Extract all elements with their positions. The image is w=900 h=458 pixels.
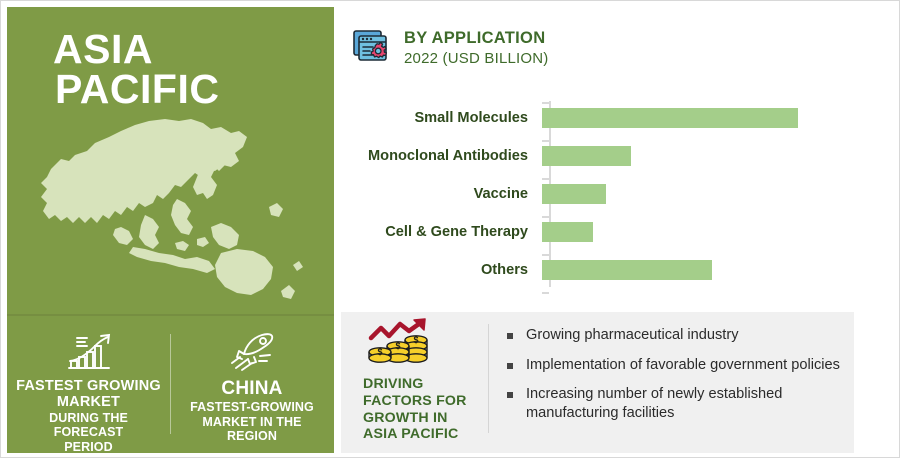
stat-main-country: CHINA xyxy=(176,378,328,399)
stat-text-china: CHINA FASTEST-GROWING MARKET IN THE REGI… xyxy=(170,378,334,443)
stat-sub-line2: MARKET IN THE REGION xyxy=(176,415,328,443)
driving-factors-panel: $ $ $ DRIVING FACTORS FOR GROWTH IN ASIA… xyxy=(341,312,854,453)
growth-bar-chart-arrow-icon xyxy=(63,330,115,374)
driving-factor-item: Increasing number of newly established m… xyxy=(507,385,840,422)
svg-text:$: $ xyxy=(413,335,418,345)
svg-text:$: $ xyxy=(377,347,382,357)
region-title: ASIA PACIFIC xyxy=(53,29,219,109)
axis-tick xyxy=(542,178,549,180)
stat-text-fastest-growing: FASTEST GROWING MARKET DURING THE FORECA… xyxy=(7,378,170,453)
driving-factor-item: Implementation of favorable government p… xyxy=(507,356,840,375)
driving-factor-text: Implementation of favorable government p… xyxy=(526,357,840,373)
axis-tick xyxy=(542,140,549,142)
asia-pacific-market-infographic: ASIA PACIFIC xyxy=(0,0,900,458)
region-panel: ASIA PACIFIC xyxy=(7,7,334,453)
asia-pacific-map-icon xyxy=(25,107,325,315)
driving-factors-heading: DRIVING FACTORS FOR GROWTH IN ASIA PACIF… xyxy=(363,376,488,443)
bar xyxy=(542,260,712,280)
by-application-chart-panel: BY APPLICATION 2022 (USD BILLION) Small … xyxy=(341,7,895,307)
driving-factor-text: Growing pharmaceutical industry xyxy=(526,327,739,343)
coins-growth-arrow-icon: $ $ $ xyxy=(367,318,439,370)
driving-factor-text: Increasing number of newly established m… xyxy=(526,386,782,421)
region-title-line2: PACIFIC xyxy=(55,69,219,109)
heading-line-3: GROWTH IN xyxy=(363,410,448,426)
stat-sub-line2: PERIOD xyxy=(13,440,164,453)
bullet-square-icon xyxy=(507,363,513,369)
bar-category-label: Monoclonal Antibodies xyxy=(341,148,542,164)
heading-line-4: ASIA PACIFIC xyxy=(363,426,458,442)
bullet-square-icon xyxy=(507,392,513,398)
chart-header-text: BY APPLICATION 2022 (USD BILLION) xyxy=(404,27,549,68)
chart-title: BY APPLICATION xyxy=(404,29,549,48)
stat-sub-line1: FASTEST-GROWING xyxy=(176,400,328,414)
stat-china: CHINA FASTEST-GROWING MARKET IN THE REGI… xyxy=(170,316,334,453)
bar xyxy=(542,222,593,242)
bar xyxy=(542,184,606,204)
bar-track xyxy=(542,253,895,287)
stat-fastest-growing-market: FASTEST GROWING MARKET DURING THE FORECA… xyxy=(7,316,170,453)
axis-tick xyxy=(542,102,549,104)
stat-sub-line1: DURING THE FORECAST xyxy=(13,411,164,439)
bar-chart-plot: Small MoleculesMonoclonal AntibodiesVacc… xyxy=(341,99,895,289)
bar-track xyxy=(542,139,895,173)
heading-line-1: DRIVING xyxy=(363,376,424,392)
bar-row: Cell & Gene Therapy xyxy=(341,215,895,249)
axis-tick xyxy=(542,254,549,256)
chart-header: BY APPLICATION 2022 (USD BILLION) xyxy=(351,27,549,69)
bar-track xyxy=(542,215,895,249)
region-stats: FASTEST GROWING MARKET DURING THE FORECA… xyxy=(7,316,334,453)
driving-factors-list: Growing pharmaceutical industryImplement… xyxy=(489,312,854,434)
browser-windows-gear-icon xyxy=(351,27,393,69)
heading-line-2: FACTORS FOR xyxy=(363,393,467,409)
bar-row: Vaccine xyxy=(341,177,895,211)
axis-tick xyxy=(542,216,549,218)
bar-row: Monoclonal Antibodies xyxy=(341,139,895,173)
driving-factor-item: Growing pharmaceutical industry xyxy=(507,326,840,345)
bar-track xyxy=(542,177,895,211)
bar-track xyxy=(542,101,895,135)
stat-main-line2: MARKET xyxy=(13,394,164,410)
stat-main-line1: FASTEST GROWING xyxy=(13,378,164,394)
bullet-square-icon xyxy=(507,333,513,339)
bar-row: Others xyxy=(341,253,895,287)
bar-row: Small Molecules xyxy=(341,101,895,135)
bar-category-label: Vaccine xyxy=(341,186,542,202)
bar-category-label: Others xyxy=(341,262,542,278)
chart-subtitle: 2022 (USD BILLION) xyxy=(404,50,549,68)
axis-tick xyxy=(542,292,549,294)
bar-rows: Small MoleculesMonoclonal AntibodiesVacc… xyxy=(341,99,895,289)
bar-category-label: Cell & Gene Therapy xyxy=(341,224,542,240)
bar xyxy=(542,108,798,128)
bar-category-label: Small Molecules xyxy=(341,110,542,126)
region-title-line1: ASIA xyxy=(53,26,153,72)
svg-text:$: $ xyxy=(395,341,400,351)
driving-factors-heading-block: $ $ $ DRIVING FACTORS FOR GROWTH IN ASIA… xyxy=(341,312,488,443)
rocket-icon xyxy=(226,330,278,374)
bar xyxy=(542,146,631,166)
